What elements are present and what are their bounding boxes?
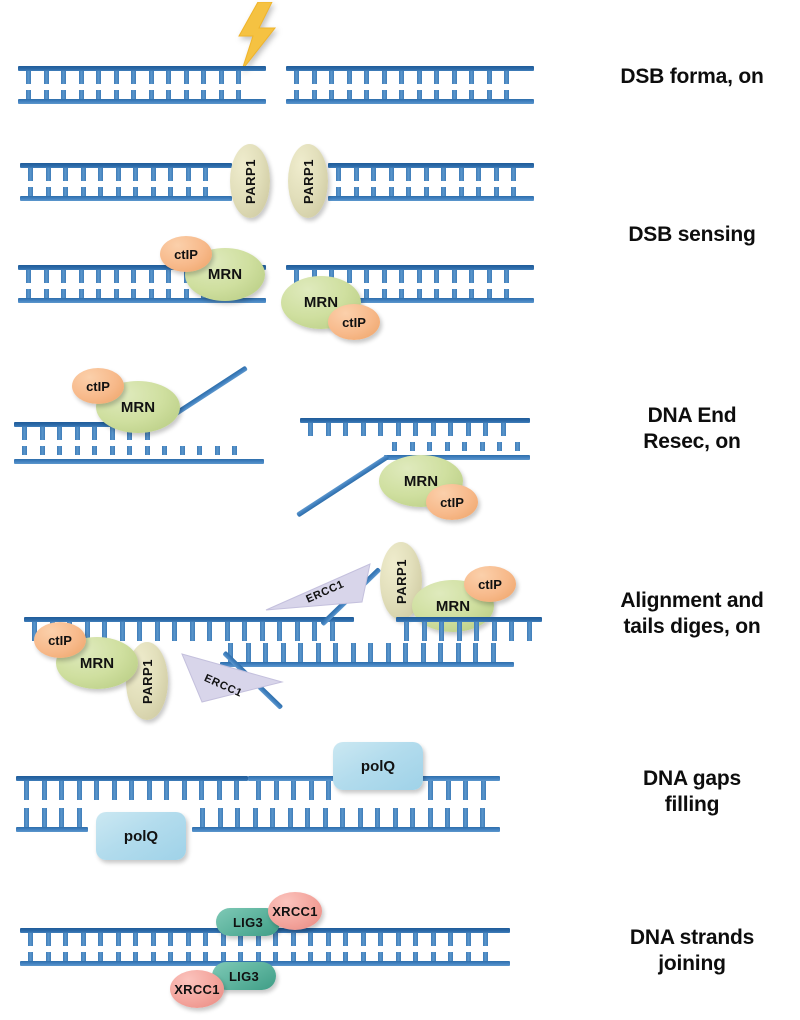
dna-backbone	[396, 617, 542, 622]
dna-base-pair-rung	[42, 808, 47, 827]
dna-base-pair-rung	[382, 90, 387, 99]
dna-base-pair-rung	[40, 427, 45, 440]
dna-base-pair-rung	[343, 952, 348, 961]
dna-backbone	[192, 827, 500, 832]
protein-mrn-label: MRN	[208, 266, 242, 283]
dna-base-pair-rung	[129, 781, 134, 800]
dna-base-pair-rung	[399, 71, 404, 84]
dna-base-pair-rung	[234, 781, 239, 800]
dna-base-pair-rung	[26, 90, 31, 99]
figure-canvas: PARP1 PARP1 MRN ctIP MRN ctIP MRN ctIP	[0, 0, 800, 1020]
dna-base-pair-rung	[434, 270, 439, 283]
dna-base-pair-rung	[291, 781, 296, 800]
dna-base-pair-rung	[448, 952, 453, 961]
dna-base-pair-rung	[236, 90, 241, 99]
dna-base-pair-rung	[260, 622, 265, 641]
dna-base-pair-rung	[515, 442, 520, 451]
dna-base-pair-rung	[225, 622, 230, 641]
dna-base-pair-rung	[378, 423, 383, 436]
dna-base-pair-rung	[329, 71, 334, 84]
dna-base-pair-rung	[434, 90, 439, 99]
dna-base-pair-rung	[399, 90, 404, 99]
dna-base-pair-rung	[326, 423, 331, 436]
dna-base-pair-rung	[46, 933, 51, 946]
dna-base-pair-rung	[116, 933, 121, 946]
dna-base-pair-rung	[133, 187, 138, 196]
dna-base-pair-rung	[114, 90, 119, 99]
dna-base-pair-rung	[294, 71, 299, 84]
dna-base-pair-rung	[75, 427, 80, 440]
dna-base-pair-rung	[59, 808, 64, 827]
dna-base-pair-rung	[94, 781, 99, 800]
dna-base-pair-rung	[434, 71, 439, 84]
protein-ctip-left[interactable]: ctIP	[34, 622, 86, 658]
dna-base-pair-rung	[459, 187, 464, 196]
dna-base-pair-rung	[256, 952, 261, 961]
dna-base-pair-rung	[312, 622, 317, 641]
protein-ctip-left[interactable]: ctIP	[72, 368, 124, 404]
dna-base-pair-rung	[364, 71, 369, 84]
dna-base-pair-rung	[308, 952, 313, 961]
protein-mrn-label: MRN	[404, 473, 438, 490]
dna-base-pair-rung	[131, 270, 136, 283]
stage-mrn-ctip-loading: MRN ctIP MRN ctIP	[0, 230, 800, 350]
dna-base-pair-rung	[164, 781, 169, 800]
dna-base-pair-rung	[186, 168, 191, 181]
dna-base-pair-rung	[166, 289, 171, 298]
dna-base-pair-rung	[79, 90, 84, 99]
dna-base-pair-rung	[203, 952, 208, 961]
dna-base-pair-rung	[207, 622, 212, 641]
dna-base-pair-rung	[527, 622, 532, 641]
dna-base-pair-rung	[92, 427, 97, 440]
dna-base-pair-rung	[452, 90, 457, 99]
dna-base-pair-rung	[133, 168, 138, 181]
dna-base-pair-rung	[24, 781, 29, 800]
dna-base-pair-rung	[168, 933, 173, 946]
dna-base-pair-rung	[253, 808, 258, 827]
protein-ctip-label: ctIP	[174, 247, 198, 262]
dna-base-pair-rung	[114, 71, 119, 84]
protein-parp1-label: PARP1	[301, 159, 316, 204]
dna-base-pair-rung	[273, 952, 278, 961]
dna-base-pair-rung	[186, 933, 191, 946]
dna-base-pair-rung	[203, 933, 208, 946]
dna-base-pair-rung	[46, 168, 51, 181]
dna-base-pair-rung	[487, 270, 492, 283]
dna-base-pair-rung	[410, 808, 415, 827]
dna-gapped-top-strand	[16, 776, 500, 800]
dna-base-pair-rung	[452, 71, 457, 84]
dna-base-pair-rung	[44, 270, 49, 283]
stage-dsb-sensing: PARP1 PARP1	[0, 130, 800, 230]
dna-base-pair-rung	[79, 270, 84, 283]
dna-base-pair-rung	[445, 808, 450, 827]
dna-base-pair-rung	[371, 187, 376, 196]
dna-backbone	[286, 66, 534, 71]
dna-base-pair-rung	[219, 71, 224, 84]
protein-ctip-right[interactable]: ctIP	[426, 484, 478, 520]
dna-base-pair-rung	[26, 270, 31, 283]
dna-base-pair-rung	[98, 187, 103, 196]
dna-base-pair-rung	[474, 622, 479, 641]
dna-base-pair-rung	[200, 808, 205, 827]
dna-base-pair-rung	[46, 187, 51, 196]
dna-base-pair-rung	[238, 952, 243, 961]
dna-base-pair-rung	[59, 781, 64, 800]
dna-base-pair-rung	[291, 952, 296, 961]
dna-base-pair-rung	[343, 933, 348, 946]
dna-base-pair-rung	[480, 808, 485, 827]
dna-base-pair-rung	[291, 933, 296, 946]
dna-base-pair-rung	[182, 781, 187, 800]
caption-alignment-tail-digestion: Alignment and tails diges, on	[586, 588, 798, 639]
dna-base-pair-rung	[504, 289, 509, 298]
dna-base-pair-rung	[201, 90, 206, 99]
caption-dsb-formation: DSB forma, on	[586, 64, 798, 90]
dna-base-pair-rung	[256, 781, 261, 800]
dna-base-pair-rung	[410, 442, 415, 451]
dna-base-pair-rung	[26, 71, 31, 84]
protein-lig3-label: LIG3	[233, 915, 263, 930]
dna-backbone	[18, 99, 266, 104]
dna-base-pair-rung	[96, 71, 101, 84]
dna-base-pair-rung	[149, 90, 154, 99]
dna-base-pair-rung	[441, 187, 446, 196]
dna-base-pair-rung	[361, 952, 366, 961]
dna-base-pair-rung	[116, 187, 121, 196]
dna-base-pair-rung	[232, 446, 237, 455]
dna-base-pair-rung	[441, 168, 446, 181]
dna-backbone	[328, 163, 534, 168]
dna-base-pair-rung	[133, 933, 138, 946]
dna-base-pair-rung	[98, 933, 103, 946]
dna-base-pair-rung	[469, 71, 474, 84]
dna-base-pair-rung	[375, 808, 380, 827]
dna-base-pair-rung	[347, 90, 352, 99]
dna-base-pair-rung	[203, 168, 208, 181]
dna-base-pair-rung	[312, 71, 317, 84]
dna-base-pair-rung	[368, 643, 373, 662]
dna-base-pair-rung	[351, 643, 356, 662]
dna-base-pair-rung	[218, 808, 223, 827]
dna-base-pair-rung	[469, 270, 474, 283]
protein-ctip-label: ctIP	[440, 495, 464, 510]
dna-base-pair-rung	[509, 622, 514, 641]
dna-base-pair-rung	[197, 446, 202, 455]
dna-base-pair-rung	[364, 90, 369, 99]
dna-duplex-left	[20, 163, 232, 201]
dna-base-pair-rung	[392, 442, 397, 451]
dna-backbone	[248, 776, 346, 781]
dna-base-pair-rung	[168, 952, 173, 961]
dna-base-pair-rung	[469, 90, 474, 99]
dna-base-pair-rung	[396, 933, 401, 946]
dna-base-pair-rung	[431, 952, 436, 961]
dna-base-pair-rung	[483, 952, 488, 961]
dna-base-pair-rung	[147, 781, 152, 800]
dna-base-pair-rung	[354, 168, 359, 181]
dna-base-pair-rung	[494, 168, 499, 181]
dna-base-pair-rung	[466, 952, 471, 961]
dna-base-pair-rung	[149, 71, 154, 84]
dna-base-pair-rung	[413, 423, 418, 436]
dna-base-pair-rung	[149, 289, 154, 298]
dna-base-pair-rung	[151, 952, 156, 961]
dna-base-pair-rung	[219, 90, 224, 99]
dna-base-pair-rung	[81, 952, 86, 961]
protein-mrn-label: MRN	[304, 294, 338, 311]
dna-base-pair-rung	[172, 622, 177, 641]
protein-polq-lower[interactable]: polQ	[96, 812, 186, 860]
dna-duplex-left	[18, 66, 266, 104]
dna-base-pair-rung	[81, 168, 86, 181]
dna-base-pair-rung	[46, 952, 51, 961]
dna-base-pair-rung	[312, 90, 317, 99]
dna-base-pair-rung	[336, 187, 341, 196]
protein-xrcc1-label: XRCC1	[272, 904, 318, 919]
dna-base-pair-rung	[110, 446, 115, 455]
dna-base-pair-rung	[361, 423, 366, 436]
dna-base-pair-rung	[487, 71, 492, 84]
dna-base-pair-rung	[61, 289, 66, 298]
dna-base-pair-rung	[131, 289, 136, 298]
dna-base-pair-rung	[406, 168, 411, 181]
dna-base-pair-rung	[364, 289, 369, 298]
dna-base-pair-rung	[77, 808, 82, 827]
dna-base-pair-rung	[199, 781, 204, 800]
protein-parp1-label: PARP1	[394, 559, 409, 604]
dna-base-pair-rung	[203, 187, 208, 196]
dna-base-pair-rung	[404, 622, 409, 641]
dna-base-pair-rung	[504, 90, 509, 99]
dna-base-pair-rung	[273, 933, 278, 946]
protein-lig3-label: LIG3	[229, 969, 259, 984]
dna-base-pair-rung	[399, 289, 404, 298]
dna-base-pair-rung	[44, 71, 49, 84]
dna-base-pair-rung	[120, 622, 125, 641]
dna-base-pair-rung	[358, 808, 363, 827]
dna-base-pair-rung	[393, 808, 398, 827]
dna-base-pair-rung	[492, 622, 497, 641]
dna-base-pair-rung	[149, 270, 154, 283]
dna-base-pair-rung	[151, 168, 156, 181]
dna-base-pair-rung	[497, 442, 502, 451]
dna-base-pair-rung	[330, 622, 335, 641]
protein-mrn-label: MRN	[436, 598, 470, 615]
dna-base-pair-rung	[184, 71, 189, 84]
dna-base-pair-rung	[323, 808, 328, 827]
dna-base-pair-rung	[137, 622, 142, 641]
dna-base-pair-rung	[364, 270, 369, 283]
dna-base-pair-rung	[340, 808, 345, 827]
dna-resected-overhang	[296, 454, 389, 517]
dna-base-pair-rung	[168, 168, 173, 181]
dna-base-pair-rung	[63, 952, 68, 961]
dna-backbone	[18, 66, 266, 71]
protein-ercc1-lower[interactable]: ERCC1	[178, 648, 284, 704]
dna-base-pair-rung	[386, 643, 391, 662]
dna-base-pair-rung	[511, 168, 516, 181]
dna-base-pair-rung	[378, 933, 383, 946]
dna-base-pair-rung	[487, 90, 492, 99]
dna-base-pair-rung	[294, 90, 299, 99]
dna-right-arm	[396, 617, 542, 663]
protein-mrn-label: MRN	[80, 655, 114, 672]
dna-base-pair-rung	[131, 90, 136, 99]
dna-base-pair-rung	[127, 446, 132, 455]
dna-base-pair-rung	[439, 622, 444, 641]
dna-base-pair-rung	[22, 427, 27, 440]
protein-parp1-label: PARP1	[243, 159, 258, 204]
dna-base-pair-rung	[469, 289, 474, 298]
dna-base-pair-rung	[487, 289, 492, 298]
dna-base-pair-rung	[112, 781, 117, 800]
dna-base-pair-rung	[186, 952, 191, 961]
dna-base-pair-rung	[504, 71, 509, 84]
dna-base-pair-rung	[28, 933, 33, 946]
protein-ercc1-upper[interactable]: ERCC1	[266, 560, 372, 616]
dna-base-pair-rung	[155, 622, 160, 641]
protein-ctip-left[interactable]: ctIP	[160, 236, 212, 272]
dna-base-pair-rung	[28, 168, 33, 181]
dna-base-pair-rung	[79, 289, 84, 298]
dna-base-pair-rung	[428, 808, 433, 827]
dna-base-pair-rung	[277, 622, 282, 641]
caption-dsb-sensing: DSB sensing	[586, 222, 798, 248]
dna-base-pair-rung	[476, 168, 481, 181]
dna-base-pair-rung	[413, 952, 418, 961]
dna-base-pair-rung	[110, 427, 115, 440]
dna-base-pair-rung	[424, 187, 429, 196]
dna-base-pair-rung	[326, 781, 331, 800]
dna-base-pair-rung	[63, 187, 68, 196]
dna-duplex-right	[328, 163, 534, 201]
dna-base-pair-rung	[417, 90, 422, 99]
dna-base-pair-rung	[347, 71, 352, 84]
dna-base-pair-rung	[428, 781, 433, 800]
dna-base-pair-rung	[114, 270, 119, 283]
dna-base-pair-rung	[77, 781, 82, 800]
dna-base-pair-rung	[61, 71, 66, 84]
dna-base-pair-rung	[361, 933, 366, 946]
dna-base-pair-rung	[347, 270, 352, 283]
dna-base-pair-rung	[26, 289, 31, 298]
protein-parp1-right[interactable]: PARP1	[288, 144, 328, 218]
dna-base-pair-rung	[81, 187, 86, 196]
dna-base-pair-rung	[61, 90, 66, 99]
dna-base-pair-rung	[316, 643, 321, 662]
dna-base-pair-rung	[40, 446, 45, 455]
dna-base-pair-rung	[308, 933, 313, 946]
dna-base-pair-rung	[382, 289, 387, 298]
dna-base-pair-rung	[333, 643, 338, 662]
dna-base-pair-rung	[501, 423, 506, 436]
dna-base-pair-rung	[417, 71, 422, 84]
dna-base-pair-rung	[298, 643, 303, 662]
dna-base-pair-rung	[457, 622, 462, 641]
dna-base-pair-rung	[417, 270, 422, 283]
protein-polq-upper[interactable]: polQ	[333, 742, 423, 790]
dna-base-pair-rung	[57, 427, 62, 440]
dna-base-pair-rung	[378, 952, 383, 961]
dna-base-pair-rung	[396, 423, 401, 436]
dna-base-pair-rung	[466, 933, 471, 946]
dna-backbone	[286, 99, 534, 104]
dna-base-pair-rung	[417, 289, 422, 298]
dna-base-pair-rung	[288, 808, 293, 827]
protein-ctip-right[interactable]: ctIP	[328, 304, 380, 340]
dna-base-pair-rung	[399, 270, 404, 283]
dna-base-pair-rung	[483, 423, 488, 436]
dna-base-pair-rung	[504, 270, 509, 283]
dna-base-pair-rung	[305, 808, 310, 827]
dna-base-pair-rung	[270, 808, 275, 827]
protein-xrcc1-upper[interactable]: XRCC1	[268, 892, 322, 930]
dna-base-pair-rung	[42, 781, 47, 800]
caption-dna-end-resection: DNA End Resec, on	[586, 403, 798, 454]
protein-ctip-label: ctIP	[48, 633, 72, 648]
dna-base-pair-rung	[116, 168, 121, 181]
caption-dna-gap-filling: DNA gaps filling	[586, 766, 798, 817]
dna-base-pair-rung	[217, 781, 222, 800]
dna-base-pair-rung	[61, 270, 66, 283]
dna-base-pair-rung	[336, 168, 341, 181]
dna-base-pair-rung	[448, 423, 453, 436]
dna-backbone	[328, 196, 534, 201]
dna-base-pair-rung	[466, 423, 471, 436]
dna-base-pair-rung	[235, 808, 240, 827]
dna-base-pair-rung	[494, 187, 499, 196]
dna-base-pair-rung	[274, 781, 279, 800]
dna-base-pair-rung	[308, 423, 313, 436]
dna-base-pair-rung	[168, 187, 173, 196]
dna-base-pair-rung	[463, 781, 468, 800]
dna-base-pair-rung	[79, 71, 84, 84]
protein-ctip-right[interactable]: ctIP	[464, 566, 516, 602]
dna-base-pair-rung	[431, 423, 436, 436]
dna-backbone	[286, 265, 534, 270]
dna-base-pair-rung	[116, 952, 121, 961]
dna-gapped-bottom-strand	[16, 808, 500, 832]
dna-base-pair-rung	[329, 90, 334, 99]
dna-base-pair-rung	[98, 168, 103, 181]
dna-base-pair-rung	[186, 187, 191, 196]
dna-base-pair-rung	[422, 622, 427, 641]
dna-base-pair-rung	[481, 781, 486, 800]
dna-base-pair-rung	[151, 187, 156, 196]
dna-base-pair-rung	[44, 90, 49, 99]
dna-base-pair-rung	[221, 952, 226, 961]
protein-xrcc1-lower[interactable]: XRCC1	[170, 970, 224, 1008]
dna-base-pair-rung	[184, 90, 189, 99]
dna-base-pair-rung	[96, 270, 101, 283]
dna-base-pair-rung	[326, 933, 331, 946]
dna-base-pair-rung	[434, 289, 439, 298]
protein-parp1-left[interactable]: PARP1	[230, 144, 270, 218]
dna-base-pair-rung	[431, 933, 436, 946]
dna-base-pair-rung	[98, 952, 103, 961]
caption-dna-strand-joining: DNA strands joining	[586, 925, 798, 976]
dna-base-pair-rung	[389, 187, 394, 196]
dna-base-pair-rung	[114, 289, 119, 298]
dna-base-pair-rung	[131, 71, 136, 84]
dna-base-pair-rung	[309, 781, 314, 800]
dna-base-pair-rung	[166, 71, 171, 84]
dna-base-pair-rung	[92, 446, 97, 455]
dna-base-pair-rung	[389, 168, 394, 181]
dna-base-pair-rung	[190, 622, 195, 641]
